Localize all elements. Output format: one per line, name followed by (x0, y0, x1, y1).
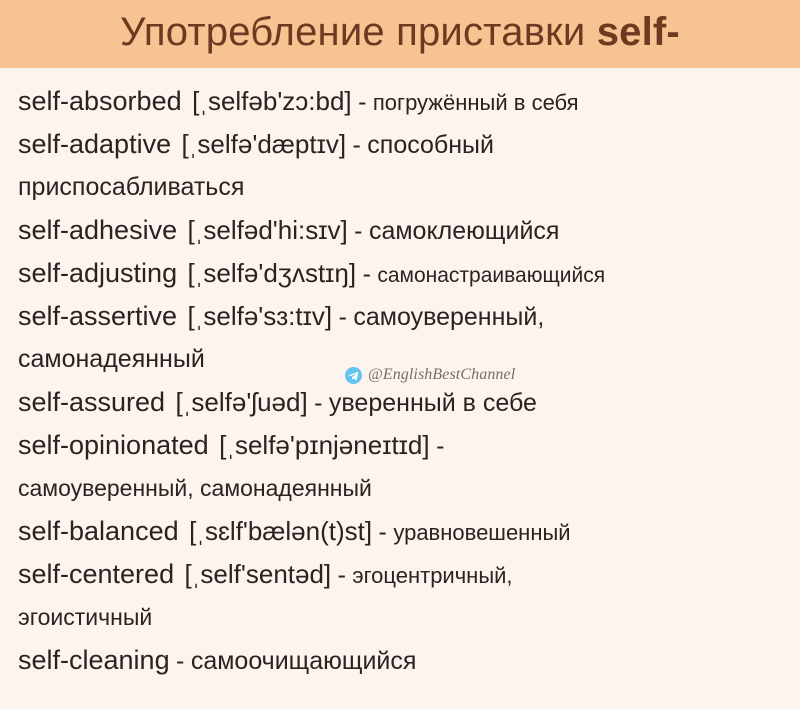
entry-term: self-opinionated (18, 430, 209, 460)
entry-dash: - (338, 561, 346, 589)
entry-ipa: [ˌsɛlf'bælən(t)st] (189, 516, 372, 546)
list-item: self-absorbed [ˌselfəb'zɔ:bd] - погружён… (18, 80, 800, 123)
telegram-icon (345, 367, 362, 384)
list-item: self-balanced [ˌsɛlf'bælən(t)st] - уравн… (18, 510, 800, 553)
entry-line: self-adjusting [ˌselfə'dʒʌstɪŋ] - самона… (18, 252, 800, 295)
entry-gloss: уравновешенный (393, 520, 570, 545)
list-item: self-adaptive [ˌselfə'dæptɪv] - способны… (18, 123, 800, 209)
entry-line: self-centered [ˌself'sentəd] - эгоцентри… (18, 553, 800, 596)
entry-term: self-assured (18, 387, 165, 417)
entry-ipa: [ˌselfə'pɪnjəneɪtɪd] (219, 430, 430, 460)
entry-term: self-adjusting (18, 258, 177, 288)
entry-ipa: [ˌselfəd'hi:sɪv] (188, 215, 348, 245)
entry-dash: - (353, 131, 361, 159)
entry-term: self-cleaning (18, 645, 170, 675)
entry-gloss: погружённый в себя (373, 90, 579, 115)
entry-line: self-cleaning - самоочищающийся (18, 639, 800, 682)
entry-gloss-continuation: эгоистичный (18, 604, 152, 630)
entry-dash: - (379, 518, 387, 546)
entry-line: self-adaptive [ˌselfə'dæptɪv] - способны… (18, 123, 800, 166)
entry-term: self-balanced (18, 516, 179, 546)
entry-dash: - (314, 389, 322, 417)
entry-ipa: [ˌself'sentəd] (185, 559, 332, 589)
entry-line-continuation: приспосабливаться (18, 166, 800, 209)
entry-ipa: [ˌselfəb'zɔ:bd] (192, 86, 352, 116)
entry-ipa: [ˌselfə'sɜ:tɪv] (188, 301, 333, 331)
entry-line-continuation: самоуверенный, самонадеянный (18, 467, 800, 510)
channel-handle: @EnglishBestChannel (368, 366, 515, 384)
entry-gloss-continuation: самонадеянный (18, 345, 205, 373)
entry-gloss: способный (367, 131, 494, 159)
entry-ipa: [ˌselfə'dʒʌstɪŋ] (188, 258, 357, 288)
entry-dash: - (436, 432, 444, 460)
entry-line: self-opinionated [ˌselfə'pɪnjəneɪtɪd] - (18, 424, 800, 467)
poster: Употребление приставки self- self-absorb… (0, 0, 800, 709)
entry-line: self-assured [ˌselfə'ʃuəd] - уверенный в… (18, 381, 800, 424)
page-title-plain: Употребление приставки (120, 10, 597, 54)
list-item: self-assured [ˌselfə'ʃuəd] - уверенный в… (18, 381, 800, 424)
entry-gloss-continuation: приспосабливаться (18, 173, 244, 201)
entry-line-continuation: эгоистичный (18, 596, 800, 639)
entry-term: self-adhesive (18, 215, 177, 245)
entry-gloss: самонастраивающийся (377, 264, 605, 287)
entry-line: self-balanced [ˌsɛlf'bælən(t)st] - уравн… (18, 510, 800, 553)
page-title: Употребление приставки self- (120, 12, 680, 52)
entry-dash: - (363, 260, 371, 288)
list-item: self-centered [ˌself'sentəd] - эгоцентри… (18, 553, 800, 639)
entry-ipa: [ˌselfə'ʃuəd] (176, 387, 308, 417)
list-item: self-cleaning - самоочищающийся (18, 639, 800, 682)
entry-dash: - (176, 647, 184, 675)
list-item: self-adhesive [ˌselfəd'hi:sɪv] - самокле… (18, 209, 800, 252)
header-banner: Употребление приставки self- (0, 0, 800, 68)
entry-line: self-assertive [ˌselfə'sɜ:tɪv] - самоуве… (18, 295, 800, 338)
entry-gloss: самоочищающийся (191, 647, 417, 675)
entry-term: self-absorbed (18, 86, 182, 116)
entry-gloss-continuation: самоуверенный, самонадеянный (18, 475, 372, 501)
entry-gloss: самоуверенный, (353, 303, 544, 331)
entry-line: self-absorbed [ˌselfəb'zɔ:bd] - погружён… (18, 80, 800, 123)
entry-term: self-adaptive (18, 129, 171, 159)
channel-watermark: @EnglishBestChannel (345, 366, 515, 384)
entry-term: self-assertive (18, 301, 177, 331)
entry-gloss: самоклеющийся (369, 217, 560, 245)
entry-line: self-adhesive [ˌselfəd'hi:sɪv] - самокле… (18, 209, 800, 252)
list-item: self-adjusting [ˌselfə'dʒʌstɪŋ] - самона… (18, 252, 800, 295)
list-item: self-opinionated [ˌselfə'pɪnjəneɪtɪd] - … (18, 424, 800, 510)
entry-dash: - (354, 217, 362, 245)
entry-gloss: эгоцентричный, (352, 563, 512, 588)
entry-dash: - (358, 88, 366, 116)
entry-ipa: [ˌselfə'dæptɪv] (182, 129, 347, 159)
page-title-prefix: self- (597, 10, 680, 54)
entry-gloss: уверенный в себе (329, 389, 537, 417)
entry-term: self-centered (18, 559, 174, 589)
entry-dash: - (339, 303, 347, 331)
